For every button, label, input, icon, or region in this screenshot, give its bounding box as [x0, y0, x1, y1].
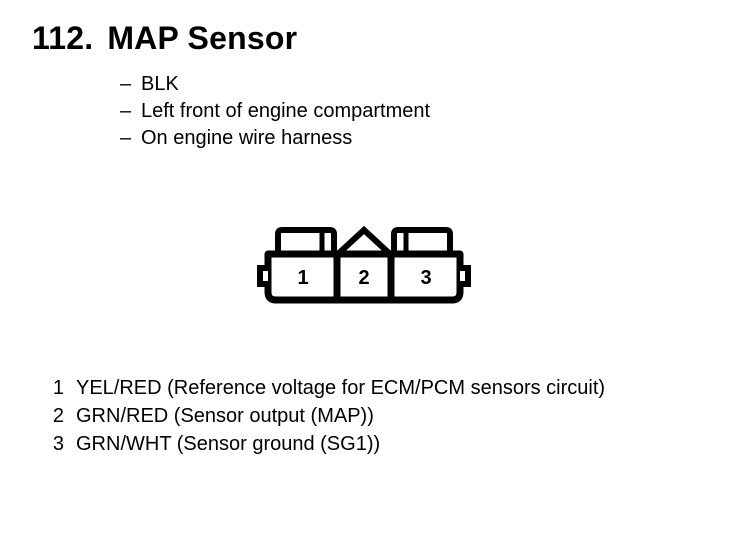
list-item: –Left front of engine compartment [120, 98, 430, 125]
legend-pin-number: 2 [44, 402, 64, 430]
attribute-label: BLK [141, 73, 179, 95]
legend-pin-description: GRN/RED (Sensor output (MAP)) [76, 405, 374, 427]
left-locking-tab-icon [278, 230, 334, 254]
dash-bullet-icon: – [120, 98, 141, 125]
list-item: 3GRN/WHT (Sensor ground (SG1)) [44, 430, 605, 458]
list-item: 1YEL/RED (Reference voltage for ECM/PCM … [44, 374, 605, 402]
legend-pin-description: GRN/WHT (Sensor ground (SG1)) [76, 433, 380, 455]
attribute-label: On engine wire harness [141, 127, 352, 149]
attribute-label: Left front of engine compartment [141, 100, 430, 122]
list-item: –BLK [120, 71, 430, 98]
page-title-number: 112. [32, 20, 93, 56]
dash-bullet-icon: – [120, 71, 141, 98]
center-keying-peak-icon [338, 230, 390, 254]
legend-pin-number: 3 [44, 430, 64, 458]
cavity-number-2: 2 [358, 267, 369, 289]
list-item: 2GRN/RED (Sensor output (MAP)) [44, 402, 605, 430]
right-locking-tab-icon [394, 230, 450, 254]
page-title: 112.MAP Sensor [32, 20, 297, 57]
list-item: –On engine wire harness [120, 125, 430, 152]
dash-bullet-icon: – [120, 125, 141, 152]
legend-pin-number: 1 [44, 374, 64, 402]
left-side-nub-icon [260, 268, 268, 284]
legend-pin-description: YEL/RED (Reference voltage for ECM/PCM s… [76, 377, 605, 399]
cavity-number-3: 3 [420, 267, 431, 289]
connector-diagram: 1 2 3 [256, 222, 472, 306]
page-title-name: MAP Sensor [107, 20, 297, 56]
sensor-attribute-list: –BLK –Left front of engine compartment –… [120, 71, 430, 152]
cavity-number-1: 1 [297, 267, 308, 289]
right-side-nub-icon [460, 268, 468, 284]
pin-legend-list: 1YEL/RED (Reference voltage for ECM/PCM … [44, 374, 605, 458]
